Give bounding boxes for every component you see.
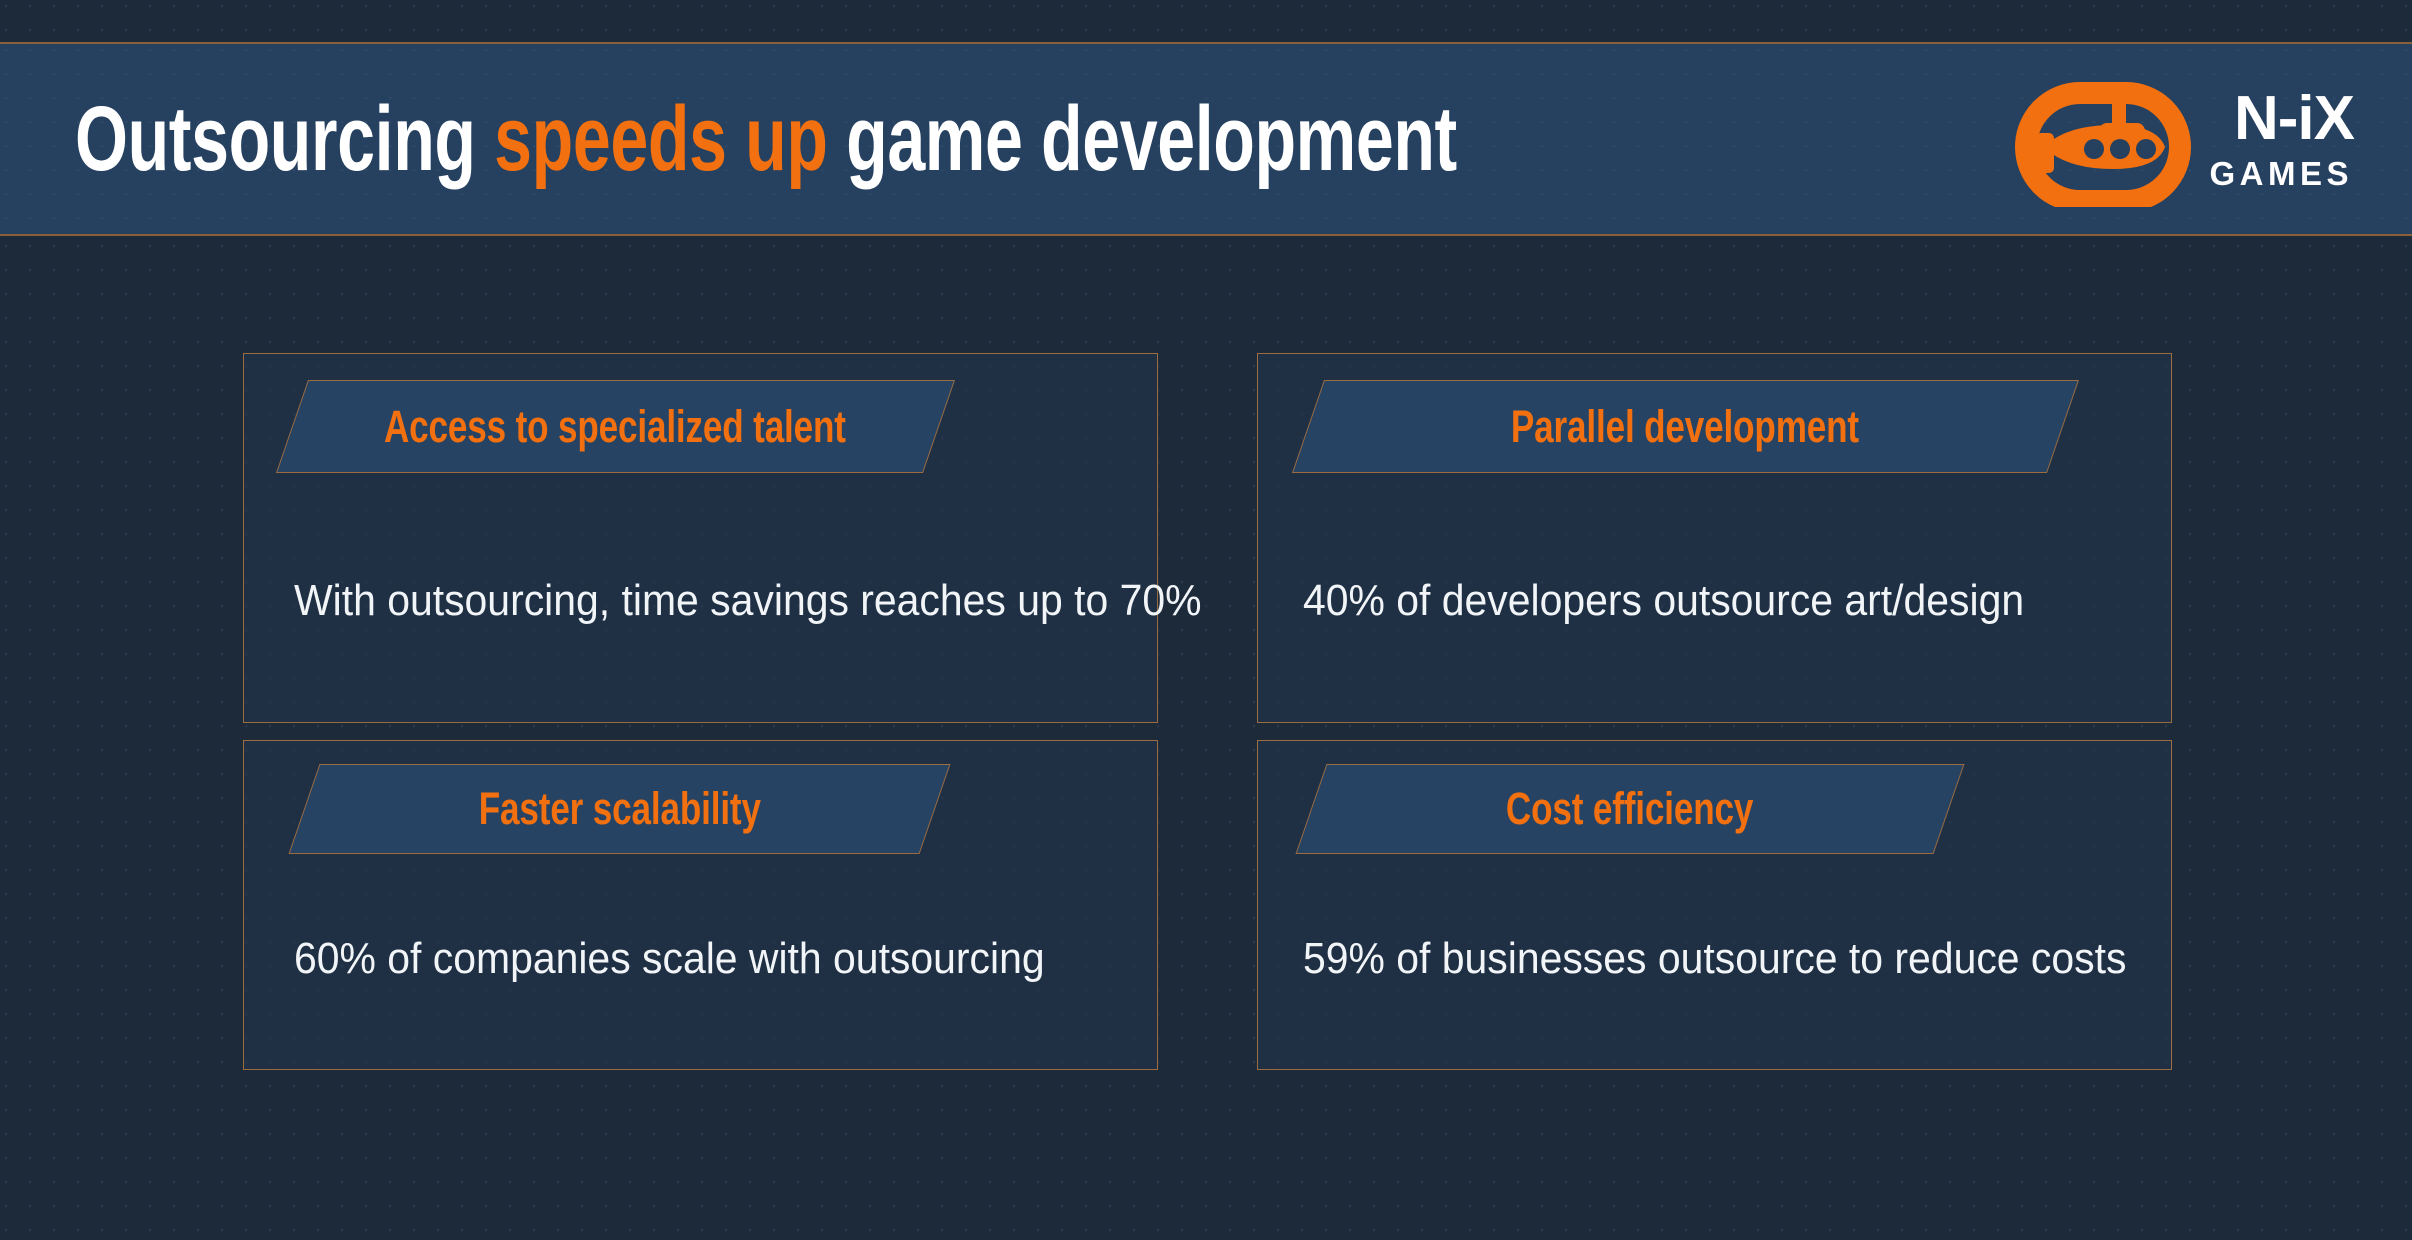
benefit-card-cost-efficiency[interactable]: Cost efficiency 59% of businesses outsou…	[1257, 740, 2172, 1070]
card-body-text: 40% of developers outsource art/design	[1303, 576, 2137, 626]
brand-logo[interactable]: N-iX GAMES	[2015, 67, 2354, 212]
card-badge: Access to specialized talent	[276, 380, 955, 473]
card-badge: Cost efficiency	[1296, 764, 1965, 854]
card-badge-text: Faster scalability	[439, 783, 801, 835]
slide-canvas: Outsourcing speeds up game development	[0, 0, 2412, 1240]
card-badge-text: Access to specialized talent	[319, 401, 911, 453]
benefit-card-access-to-specialized-talent[interactable]: Access to specialized talent With outsou…	[243, 353, 1158, 723]
submarine-logo-icon	[2015, 67, 2191, 212]
slide-header: Outsourcing speeds up game development	[0, 42, 2412, 236]
badge-wrapper: Cost efficiency	[1258, 764, 2171, 854]
title-part-2: game development	[828, 88, 1457, 190]
card-badge: Faster scalability	[289, 764, 951, 854]
benefit-card-faster-scalability[interactable]: Faster scalability 60% of companies scal…	[243, 740, 1158, 1070]
badge-wrapper: Parallel development	[1258, 380, 2171, 473]
card-body-text: With outsourcing, time savings reaches u…	[294, 576, 1123, 626]
brand-name: N-iX	[2234, 88, 2354, 150]
title-accent: speeds up	[494, 88, 827, 190]
brand-subname: GAMES	[2209, 157, 2353, 190]
benefit-cards-grid: Access to specialized talent With outsou…	[243, 353, 2172, 1070]
card-body-text: 59% of businesses outsource to reduce co…	[1303, 934, 2137, 984]
badge-wrapper: Faster scalability	[244, 764, 1157, 854]
card-badge: Parallel development	[1292, 380, 2079, 473]
brand-wordmark: N-iX GAMES	[2209, 88, 2354, 190]
page-title: Outsourcing speeds up game development	[75, 93, 1511, 185]
title-part-1: Outsourcing	[75, 88, 494, 190]
card-badge-text: Cost efficiency	[1471, 783, 1788, 835]
card-badge-text: Parallel development	[1462, 401, 1908, 453]
badge-wrapper: Access to specialized talent	[244, 380, 1157, 473]
benefit-card-parallel-development[interactable]: Parallel development 40% of developers o…	[1257, 353, 2172, 723]
card-body-text: 60% of companies scale with outsourcing	[294, 934, 1123, 984]
